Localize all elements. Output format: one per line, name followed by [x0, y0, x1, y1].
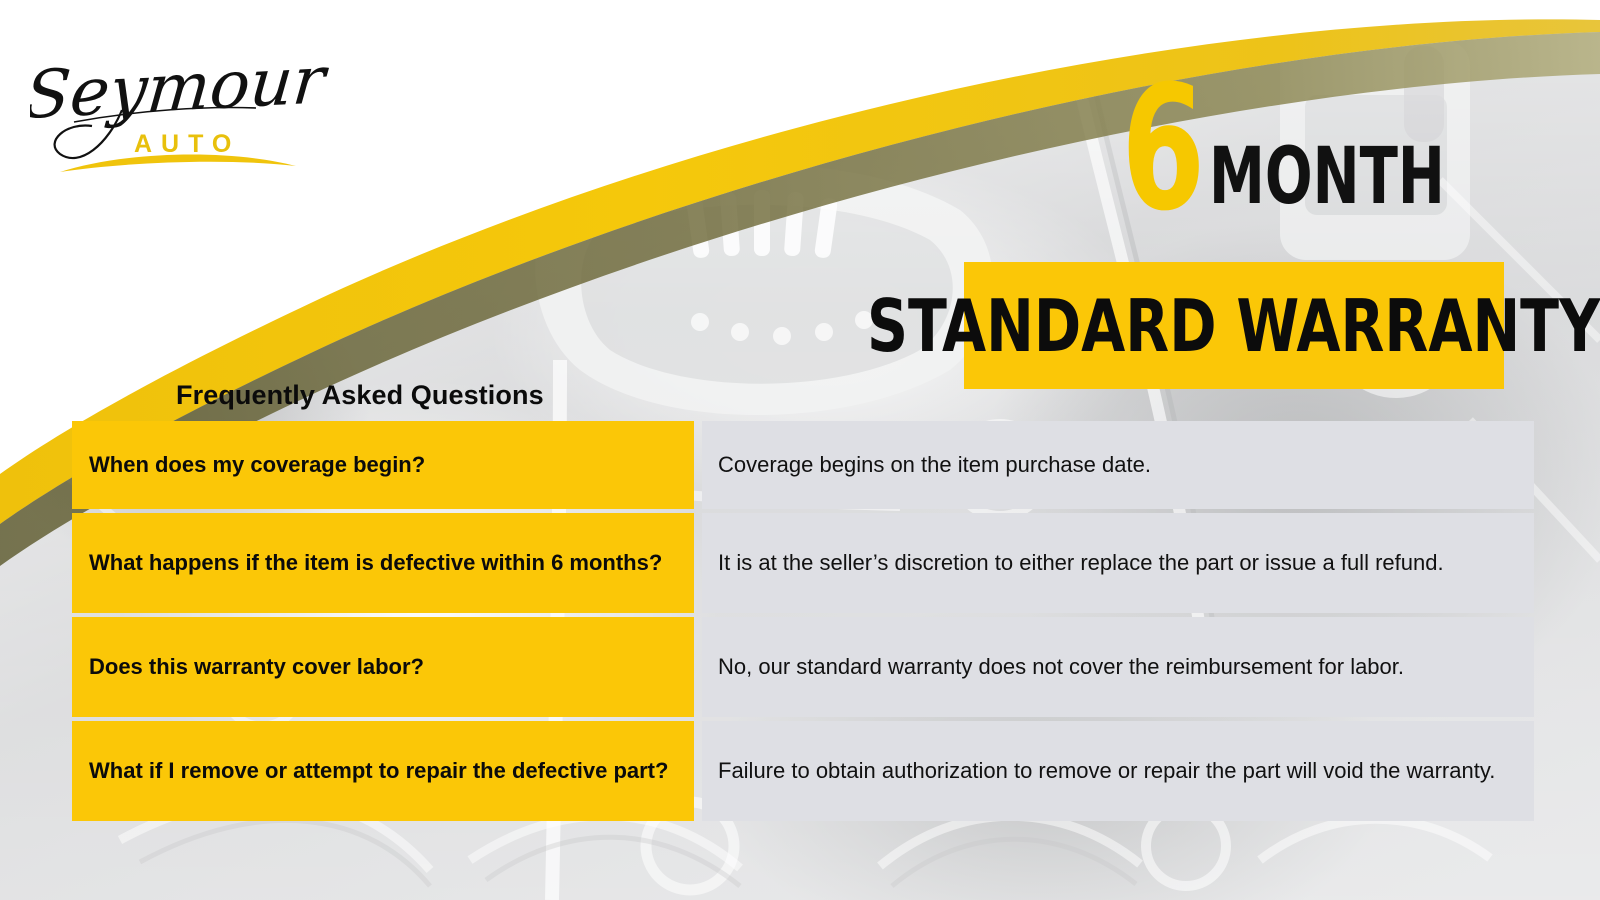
table-row: What if I remove or attempt to repair th… [72, 721, 1534, 821]
faq-answer-cell: It is at the seller’s discretion to eith… [702, 513, 1534, 613]
faq-question-cell: Does this warranty cover labor? [72, 617, 694, 717]
column-gap [694, 421, 702, 509]
column-gap [694, 617, 702, 717]
faq-answer-text: It is at the seller’s discretion to eith… [718, 548, 1512, 578]
faq-question-cell: When does my coverage begin? [72, 421, 694, 509]
faq-question-text: What happens if the item is defective wi… [89, 548, 662, 577]
column-gap [694, 513, 702, 613]
faq-answer-text: Failure to obtain authorization to remov… [718, 756, 1512, 786]
banner-label: STANDARD WARRANTY [867, 290, 1600, 362]
faq-answer-text: No, our standard warranty does not cover… [718, 652, 1512, 682]
faq-question-text: Does this warranty cover labor? [89, 652, 424, 681]
seymour-auto-logo: Seymour AUTO [30, 26, 330, 176]
faq-question-text: What if I remove or attempt to repair th… [89, 756, 668, 785]
faq-answer-text: Coverage begins on the item purchase dat… [718, 450, 1512, 480]
logo-auto-text: AUTO [134, 130, 240, 158]
faq-answer-cell: Failure to obtain authorization to remov… [702, 721, 1534, 821]
table-row: When does my coverage begin? Coverage be… [72, 421, 1534, 509]
faq-answer-cell: Coverage begins on the item purchase dat… [702, 421, 1534, 509]
table-row: Does this warranty cover labor? No, our … [72, 617, 1534, 717]
faq-section-title: Frequently Asked Questions [176, 380, 544, 411]
faq-answer-cell: No, our standard warranty does not cover… [702, 617, 1534, 717]
warranty-duration-headline: 6 MONTH [1098, 78, 1505, 219]
warranty-slide: Seymour AUTO 6 MONTH STANDARD WARRANTY F… [0, 0, 1600, 900]
duration-unit: MONTH [1209, 144, 1445, 219]
faq-question-cell: What happens if the item is defective wi… [72, 513, 694, 613]
faq-question-text: When does my coverage begin? [89, 450, 425, 479]
table-row: What happens if the item is defective wi… [72, 513, 1534, 613]
faq-question-cell: What if I remove or attempt to repair th… [72, 721, 694, 821]
standard-warranty-banner: STANDARD WARRANTY [964, 262, 1504, 389]
column-gap [694, 721, 702, 821]
logo-script-text: Seymour [30, 41, 330, 134]
faq-table: When does my coverage begin? Coverage be… [72, 421, 1534, 821]
duration-number: 6 [1121, 78, 1203, 219]
